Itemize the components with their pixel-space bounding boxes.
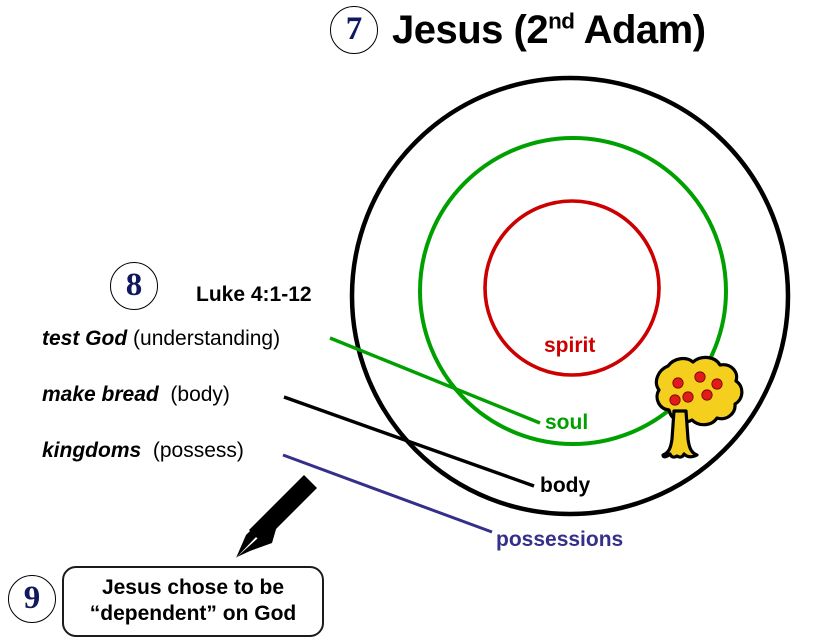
- page-title-main: Jesus (2: [392, 8, 548, 52]
- temptation-item-2: make bread (body): [42, 383, 230, 407]
- scripture-reference: Luke 4:1-12: [196, 283, 312, 307]
- step-badge-9-number: 9: [24, 582, 41, 615]
- label-possessions: possessions: [496, 528, 623, 552]
- temptation-term-1: test God: [42, 327, 127, 350]
- ring-label-body: body: [540, 474, 590, 498]
- diagram-vector-layer: [0, 0, 820, 641]
- step-badge-7: 7: [330, 6, 378, 54]
- leader-line-soul: [330, 338, 540, 423]
- temptation-aspect-1: (understanding): [133, 327, 280, 350]
- temptation-aspect-2: (body): [170, 383, 230, 406]
- ring-body-circle: [352, 78, 788, 514]
- temptation-term-3: kingdoms: [42, 439, 141, 462]
- conclusion-line-2: “dependent” on God: [74, 601, 312, 627]
- page-title-superscript: nd: [548, 8, 574, 33]
- conclusion-line-1: Jesus chose to be: [74, 575, 312, 601]
- page-title-tail: Adam): [574, 8, 705, 52]
- step-badge-9: 9: [8, 575, 56, 623]
- slide-title: 7 Jesus (2nd Adam): [330, 6, 706, 54]
- temptation-item-1: test God (understanding): [42, 327, 280, 351]
- step-badge-7-number: 7: [346, 13, 363, 46]
- leader-line-possessions: [283, 455, 492, 532]
- temptation-item-3: kingdoms (possess): [42, 439, 244, 463]
- ring-label-spirit: spirit: [544, 334, 595, 358]
- conclusion-arrow: [236, 475, 317, 558]
- conclusion-box: Jesus chose to be “dependent” on God: [62, 566, 324, 637]
- temptation-term-2: make bread: [42, 383, 159, 406]
- step-badge-8: 8: [110, 262, 158, 310]
- page-title: Jesus (2nd Adam): [392, 8, 706, 53]
- temptation-aspect-3: (possess): [153, 439, 244, 462]
- step-badge-8-number: 8: [126, 269, 143, 302]
- slide-canvas: 7 Jesus (2nd Adam) 8 Luke 4:1-12 test Go…: [0, 0, 820, 641]
- ring-label-soul: soul: [545, 411, 588, 435]
- leader-line-body: [284, 397, 534, 486]
